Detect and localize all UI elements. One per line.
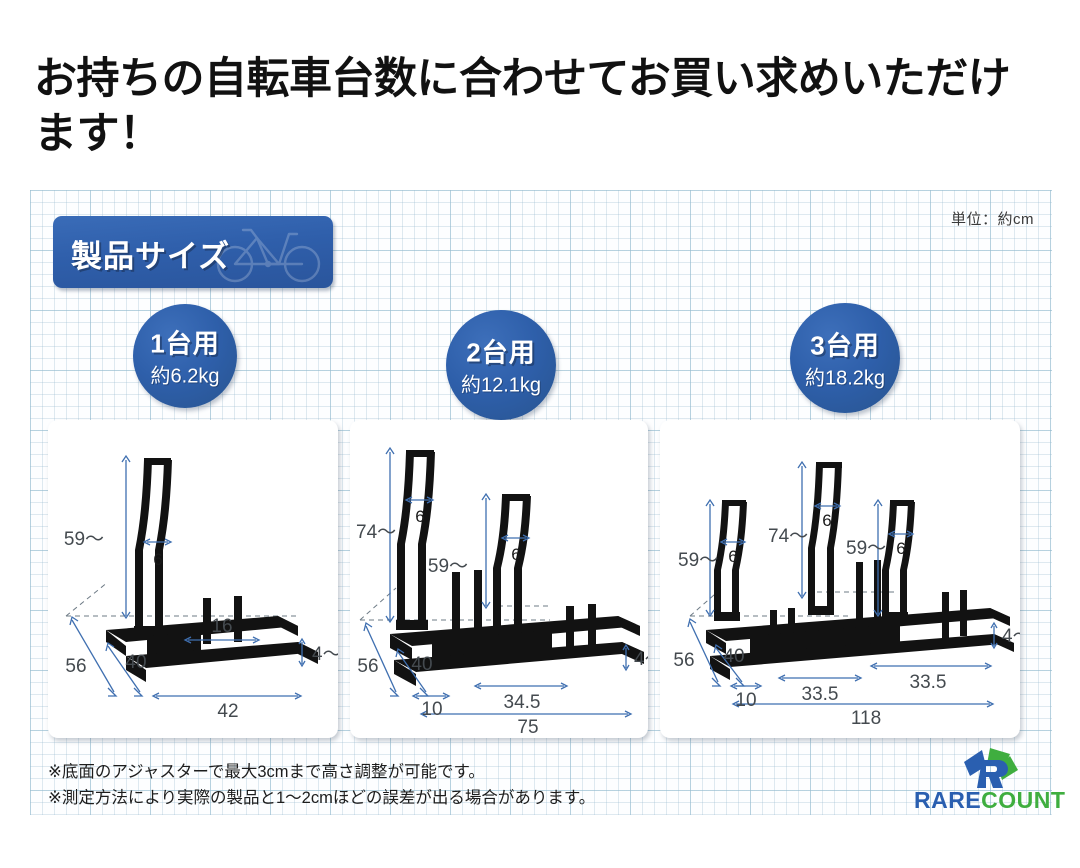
dim-span: 34.5 (504, 692, 541, 713)
dim-post-width-1: 6 (415, 507, 424, 526)
variant-count-label: 1台用 (133, 324, 237, 361)
dim-height-left: 59〜 (678, 550, 718, 571)
stand-diagram-one: 59〜 6 16 4〜 56 40 42 (48, 420, 338, 738)
dim-post-width-2: 6 (822, 511, 831, 530)
variant-weight-label: 約6.2kg (133, 360, 237, 389)
brand-word-rare: RARE (914, 787, 981, 813)
infographic-page: お持ちの自転車台数に合わせてお買い求めいただけます！ 製品サイズ 単位：約cm (0, 0, 1080, 868)
brand-logo: RARECOUNT (914, 748, 1064, 814)
product-size-badge-label: 製品サイズ (71, 231, 230, 276)
dim-depth-inner: 40 (723, 646, 744, 667)
page-headline: お持ちの自転車台数に合わせてお買い求めいただけます！ (34, 52, 1044, 162)
dim-base-thickness: 4〜 (312, 644, 338, 665)
variant-count-label: 3台用 (790, 326, 900, 363)
dim-depth-outer: 56 (673, 650, 694, 671)
unit-note: 単位：約cm (951, 208, 1034, 229)
variant-weight-label: 約18.2kg (790, 362, 900, 391)
brand-word-count: COUNT (981, 787, 1065, 813)
footnote-adjuster: ※底面のアジャスターで最大3cmまで高さ調整が可能です。 (48, 760, 595, 786)
product-size-badge: 製品サイズ (53, 216, 333, 288)
brand-wordmark: RARECOUNT (914, 787, 1064, 814)
variant-badge-one: 1台用 約6.2kg (133, 304, 237, 408)
dim-depth-outer: 56 (357, 656, 378, 677)
diagram-panel-three-bike: 59〜 6 74〜 6 59〜 6 4〜 56 40 10 33.5 33.5 … (660, 420, 1020, 738)
stand-diagram-three: 59〜 6 74〜 6 59〜 6 4〜 56 40 10 33.5 33.5 … (660, 420, 1020, 738)
dim-height-tall: 74〜 (356, 522, 396, 543)
dim-total-width: 42 (217, 701, 238, 722)
dim-base-thickness: 4〜 (634, 649, 648, 670)
dim-height-tall: 74〜 (768, 526, 808, 547)
dim-post-width-1: 6 (728, 547, 737, 566)
dim-span-right: 33.5 (910, 672, 947, 693)
variant-weight-label: 約12.1kg (446, 369, 556, 398)
dim-offset: 10 (735, 690, 756, 711)
dim-depth-outer: 56 (65, 656, 86, 677)
dim-total-width: 118 (851, 708, 881, 729)
dim-inner-spacing: 16 (211, 616, 232, 637)
dim-base-thickness: 4〜 (1002, 626, 1020, 647)
dim-height: 59〜 (64, 529, 104, 550)
dim-offset: 10 (421, 699, 442, 720)
diagram-panel-two-bike: 74〜 6 59〜 6 4〜 56 40 10 34.5 75 (350, 420, 648, 738)
dim-span-left: 33.5 (802, 684, 839, 705)
dim-post-width-2: 6 (511, 545, 520, 564)
dim-total-width: 75 (517, 717, 538, 738)
variant-badge-two: 2台用 約12.1kg (446, 310, 556, 420)
footnote-tolerance: ※測定方法により実際の製品と1〜2cmほどの誤差が出る場合があります。 (48, 786, 595, 812)
dim-depth-inner: 40 (411, 654, 432, 675)
stand-diagram-two: 74〜 6 59〜 6 4〜 56 40 10 34.5 75 (350, 420, 648, 738)
footnotes: ※底面のアジャスターで最大3cmまで高さ調整が可能です。 ※測定方法により実際の… (48, 760, 595, 811)
dim-post-width-3: 6 (896, 539, 905, 558)
dim-height-short: 59〜 (428, 556, 468, 577)
variant-count-label: 2台用 (446, 333, 556, 370)
variant-badge-three: 3台用 約18.2kg (790, 303, 900, 413)
dim-depth-inner: 40 (125, 652, 146, 673)
diagram-panel-one-bike: 59〜 6 16 4〜 56 40 42 (48, 420, 338, 738)
dim-height-right: 59〜 (846, 538, 886, 559)
dim-post-width: 6 (153, 550, 162, 569)
